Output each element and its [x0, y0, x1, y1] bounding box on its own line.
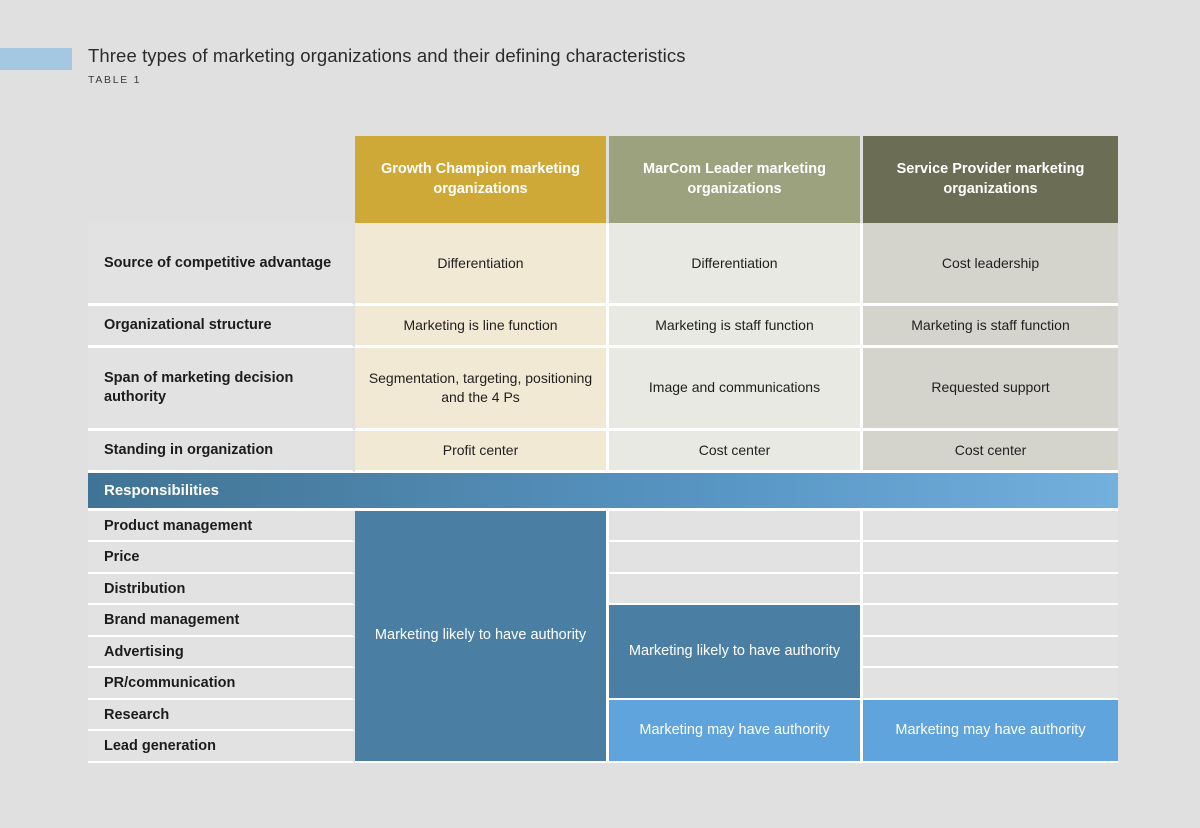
cell-marcom-leader-empty	[609, 511, 863, 543]
header-cell-marcom-leader: MarCom Leader marketing organizations	[609, 136, 863, 223]
table-number-label: TABLE 1	[88, 74, 1148, 86]
table-row-organizational-structure: Organizational structure Marketing is li…	[88, 306, 1118, 348]
authority-block-marcom-leader-may: Marketing may have authority	[609, 700, 863, 763]
header-row: Growth Champion marketing organizations …	[88, 136, 1118, 223]
table-row-standing-in-organization: Standing in organization Profit center C…	[88, 431, 1118, 473]
cell-service-provider-empty	[863, 668, 1118, 700]
table-row-product-management: Product management Marketing likely to h…	[88, 511, 1118, 543]
row-label: Distribution	[88, 574, 355, 606]
row-label: Organizational structure	[88, 306, 355, 348]
row-label: Advertising	[88, 637, 355, 669]
cell-marcom-leader-empty	[609, 574, 863, 606]
page-title: Three types of marketing organizations a…	[88, 44, 1148, 67]
row-label: PR/communication	[88, 668, 355, 700]
cell-marcom-leader: Differentiation	[609, 223, 863, 306]
table-container: Growth Champion marketing organizations …	[88, 136, 1118, 762]
cell-growth-champion: Profit center	[355, 431, 609, 473]
row-label: Source of competitive advantage	[88, 223, 355, 306]
authority-block-marcom-leader-likely: Marketing likely to have authority	[609, 605, 863, 700]
table-header: Growth Champion marketing organizations …	[88, 136, 1118, 223]
cell-marcom-leader: Image and communications	[609, 348, 863, 431]
accent-bar	[0, 48, 72, 70]
table-row-source-of-competitive-advantage: Source of competitive advantage Differen…	[88, 223, 1118, 306]
cell-growth-champion: Marketing is line function	[355, 306, 609, 348]
cell-growth-champion: Segmentation, targeting, positioning and…	[355, 348, 609, 431]
cell-service-provider: Cost leadership	[863, 223, 1118, 306]
header-cell-growth-champion: Growth Champion marketing organizations	[355, 136, 609, 223]
cell-service-provider: Marketing is staff function	[863, 306, 1118, 348]
row-label: Product management	[88, 511, 355, 543]
header-cell-service-provider: Service Provider marketing organizations	[863, 136, 1118, 223]
cell-service-provider-empty	[863, 542, 1118, 574]
cell-service-provider: Requested support	[863, 348, 1118, 431]
authority-block-service-provider-may: Marketing may have authority	[863, 700, 1118, 763]
cell-marcom-leader: Marketing is staff function	[609, 306, 863, 348]
authority-block-growth-champion-likely: Marketing likely to have authority	[355, 511, 609, 763]
table-row-span-of-marketing-decision-authority: Span of marketing decision authority Seg…	[88, 348, 1118, 431]
row-label: Price	[88, 542, 355, 574]
title-block: Three types of marketing organizations a…	[88, 44, 1148, 86]
row-label: Span of marketing decision authority	[88, 348, 355, 431]
cell-service-provider-empty	[863, 511, 1118, 543]
cell-service-provider-empty	[863, 605, 1118, 637]
cell-growth-champion: Differentiation	[355, 223, 609, 306]
table-body: Source of competitive advantage Differen…	[88, 223, 1118, 763]
cell-marcom-leader: Cost center	[609, 431, 863, 473]
responsibilities-banner-row: Responsibilities	[88, 473, 1118, 511]
responsibilities-banner: Responsibilities	[88, 473, 1118, 511]
row-label: Research	[88, 700, 355, 732]
row-label: Lead generation	[88, 731, 355, 763]
cell-marcom-leader-empty	[609, 542, 863, 574]
cell-service-provider-empty	[863, 637, 1118, 669]
marketing-organizations-table: Growth Champion marketing organizations …	[88, 136, 1118, 763]
row-label: Standing in organization	[88, 431, 355, 473]
cell-service-provider: Cost center	[863, 431, 1118, 473]
cell-service-provider-empty	[863, 574, 1118, 606]
row-label: Brand management	[88, 605, 355, 637]
header-cell-blank	[88, 136, 355, 223]
